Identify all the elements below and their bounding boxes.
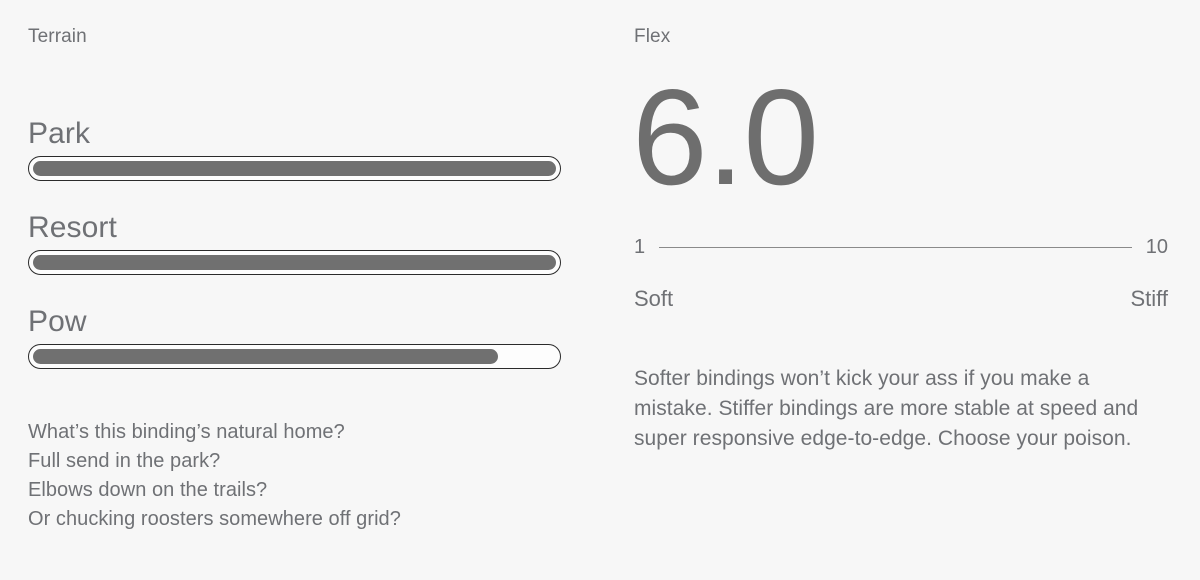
- flex-scale-max: 10: [1146, 235, 1168, 259]
- terrain-column: Terrain Park Resort Pow: [0, 0, 600, 580]
- terrain-label-park: Park: [28, 116, 560, 152]
- terrain-label-resort: Resort: [28, 210, 560, 246]
- flex-description: Softer bindings won’t kick your ass if y…: [634, 364, 1158, 454]
- flex-scale-min: 1: [634, 235, 645, 259]
- terrain-section-title: Terrain: [28, 24, 560, 50]
- flex-scale-words: Soft Stiff: [634, 286, 1168, 312]
- terrain-prompt-line-1: What’s this binding’s natural home?: [28, 418, 560, 447]
- terrain-meter-pow: Pow: [28, 304, 560, 369]
- flex-column: Flex 6.0 1 10 Soft Stiff Softer bindings…: [600, 0, 1200, 580]
- flex-value: 6.0: [632, 62, 1166, 212]
- flex-scale-min-word: Soft: [634, 286, 673, 312]
- terrain-prompt-block: What’s this binding’s natural home? Full…: [28, 418, 560, 534]
- meter-track-park[interactable]: [28, 156, 561, 181]
- meter-track-resort[interactable]: [28, 250, 561, 275]
- flex-section-title: Flex: [634, 24, 1166, 50]
- meter-fill-pow: [33, 349, 498, 364]
- terrain-meter-resort: Resort: [28, 210, 560, 275]
- terrain-prompt-line-4: Or chucking roosters somewhere off grid?: [28, 505, 560, 534]
- meter-fill-resort: [33, 255, 556, 270]
- meter-fill-park: [33, 161, 556, 176]
- flex-scale-max-word: Stiff: [1130, 286, 1168, 312]
- binding-spec-panel: Terrain Park Resort Pow: [0, 0, 1200, 580]
- flex-scale-line: [659, 247, 1132, 248]
- flex-scale-row: 1 10: [634, 235, 1168, 259]
- terrain-prompt-line-2: Full send in the park?: [28, 447, 560, 476]
- meter-track-pow[interactable]: [28, 344, 561, 369]
- terrain-meter-list: Park Resort Pow: [28, 116, 560, 369]
- terrain-label-pow: Pow: [28, 304, 560, 340]
- terrain-prompt-line-3: Elbows down on the trails?: [28, 476, 560, 505]
- terrain-meter-park: Park: [28, 116, 560, 181]
